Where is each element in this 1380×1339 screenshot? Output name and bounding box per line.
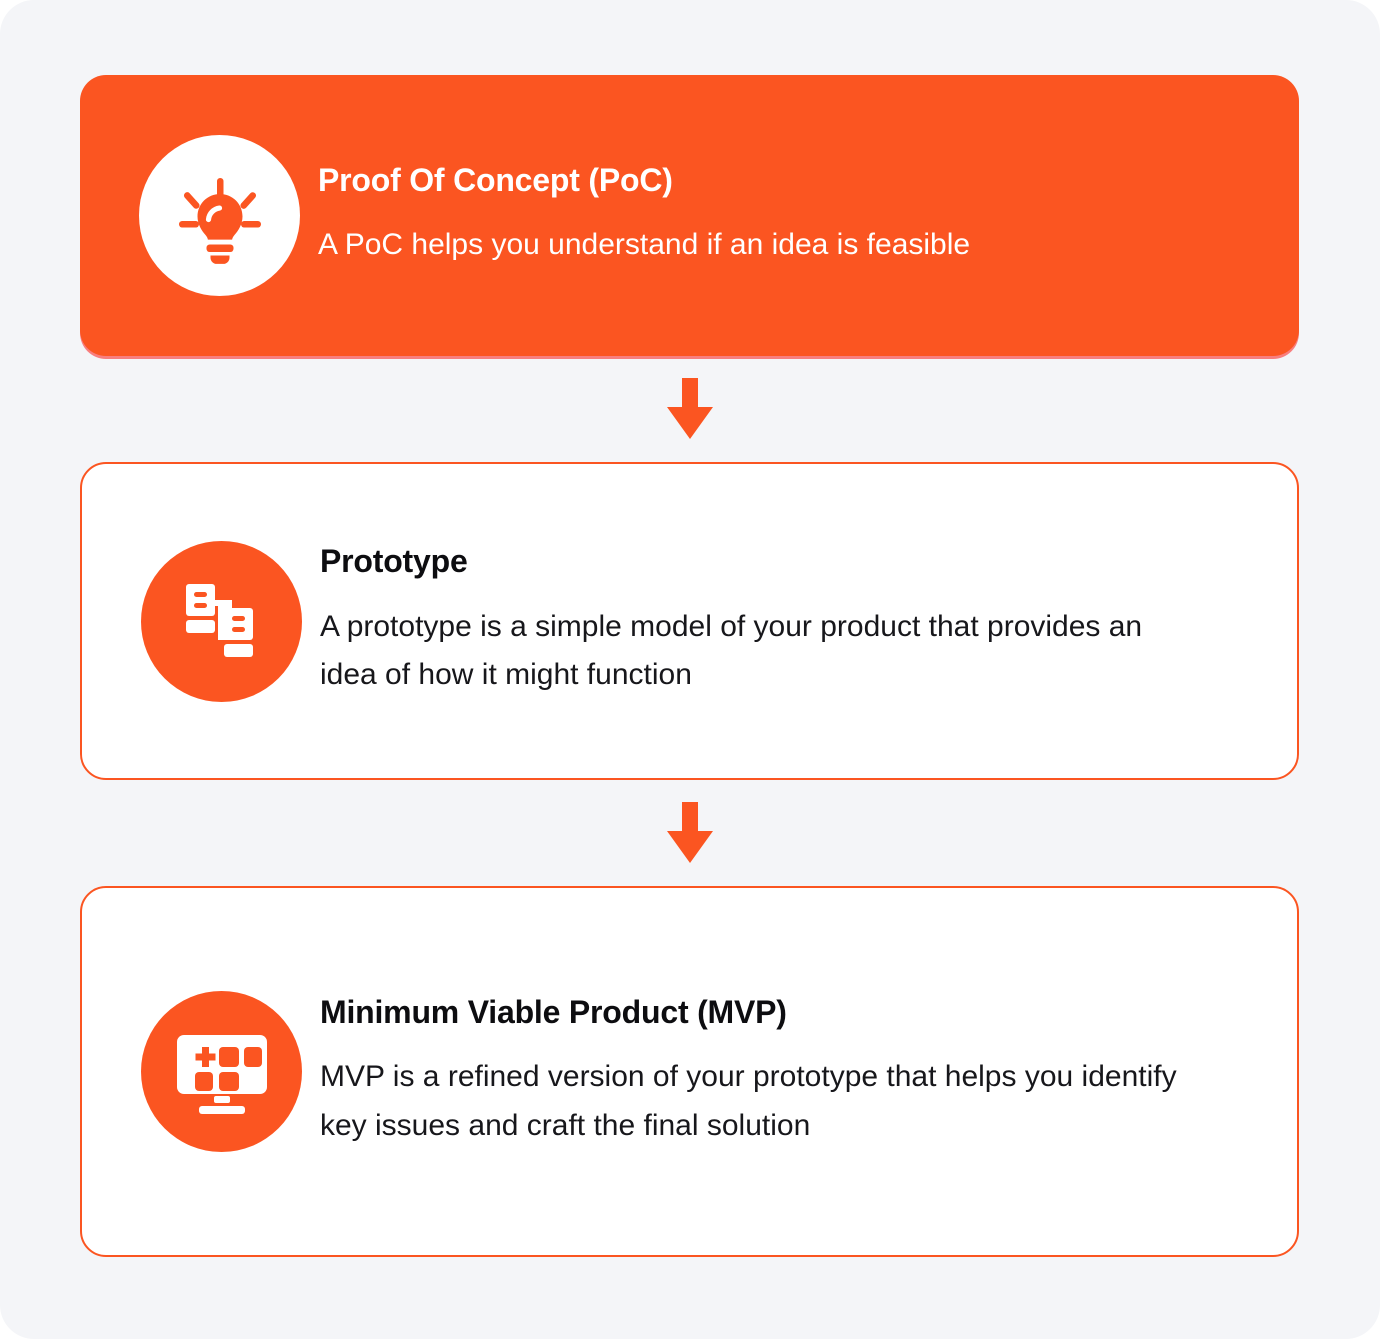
step-title: Proof Of Concept (PoC)	[318, 161, 1259, 199]
step-description: MVP is a refined version of your prototy…	[320, 1053, 1200, 1150]
monitor-grid-icon	[141, 991, 302, 1152]
step-card-mvp: Minimum Viable Product (MVP) MVP is a re…	[80, 886, 1299, 1257]
step-description: A PoC helps you understand if an idea is…	[318, 221, 1198, 270]
connector-1	[80, 356, 1299, 462]
step-card-poc: Proof Of Concept (PoC) A PoC helps you u…	[80, 75, 1299, 356]
step-title: Prototype	[320, 542, 1257, 580]
step-card-prototype: Prototype A prototype is a simple model …	[80, 462, 1299, 780]
step-text-mvp: Minimum Viable Product (MVP) MVP is a re…	[320, 993, 1297, 1151]
arrow-down-icon	[660, 378, 720, 440]
step-text-poc: Proof Of Concept (PoC) A PoC helps you u…	[318, 161, 1299, 270]
flow-stack: Proof Of Concept (PoC) A PoC helps you u…	[80, 75, 1299, 1257]
arrow-down-icon	[660, 802, 720, 864]
step-text-prototype: Prototype A prototype is a simple model …	[320, 542, 1297, 700]
connector-2	[80, 780, 1299, 886]
step-title: Minimum Viable Product (MVP)	[320, 993, 1257, 1031]
wireframe-screens-icon	[141, 541, 302, 702]
step-description: A prototype is a simple model of your pr…	[320, 603, 1200, 700]
lightbulb-icon	[139, 135, 300, 296]
infographic-canvas: Proof Of Concept (PoC) A PoC helps you u…	[0, 0, 1380, 1339]
